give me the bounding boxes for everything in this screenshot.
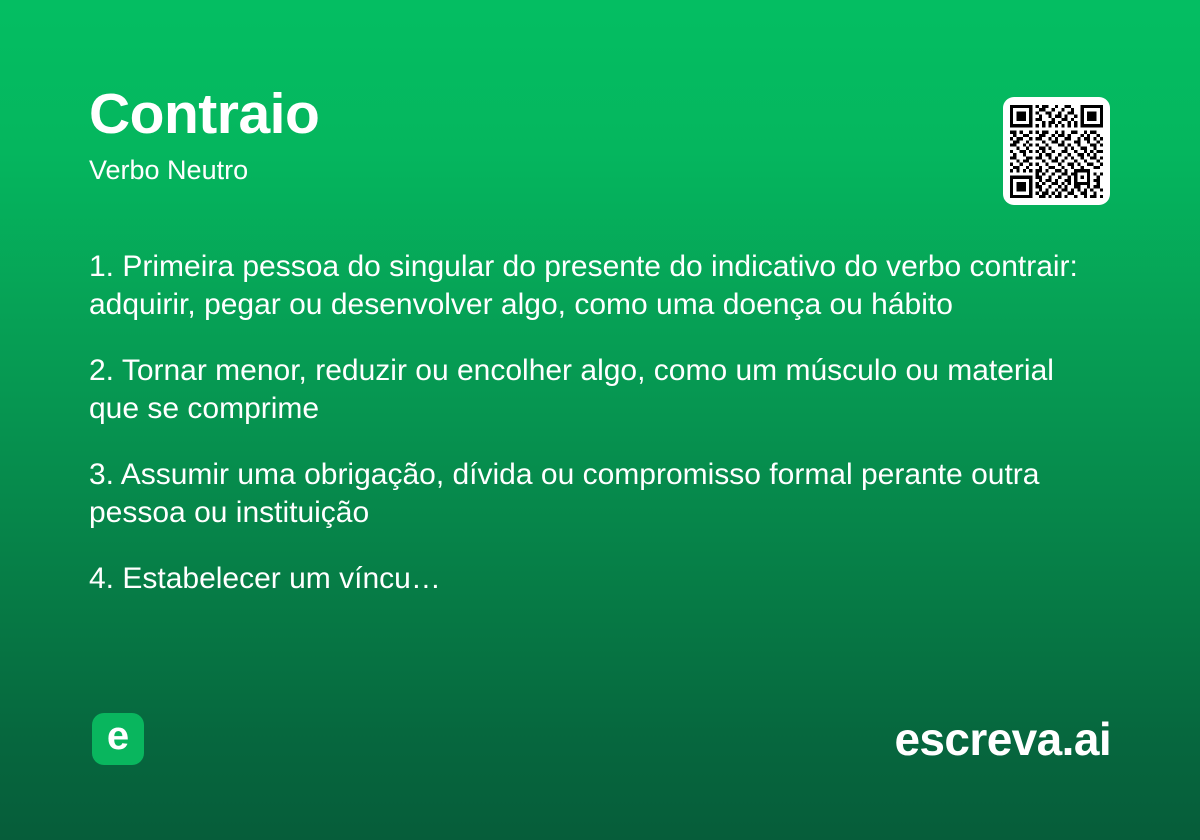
qr-code-card[interactable]	[1003, 97, 1110, 205]
dictionary-card: Contraio Verbo Neutro	[0, 0, 1200, 840]
brand-wordmark: escreva.ai	[894, 713, 1111, 765]
logo-letter-e: e	[107, 716, 129, 756]
definition-list: 1. Primeira pessoa do singular do presen…	[89, 248, 1109, 598]
definition-item: 4. Estabelecer um víncu…	[89, 560, 1104, 598]
card-footer: e escreva.ai	[0, 700, 1200, 840]
page-title: Contraio	[89, 86, 1111, 143]
definition-item: 1. Primeira pessoa do singular do presen…	[89, 248, 1104, 324]
qr-code-icon	[1010, 105, 1103, 198]
definition-item: 2. Tornar menor, reduzir ou encolher alg…	[89, 352, 1104, 428]
definition-item: 3. Assumir uma obrigação, dívida ou comp…	[89, 456, 1104, 532]
card-header: Contraio Verbo Neutro	[89, 86, 1111, 216]
word-class-label: Verbo Neutro	[89, 157, 1111, 184]
escreva-logo-badge[interactable]: e	[92, 713, 144, 765]
